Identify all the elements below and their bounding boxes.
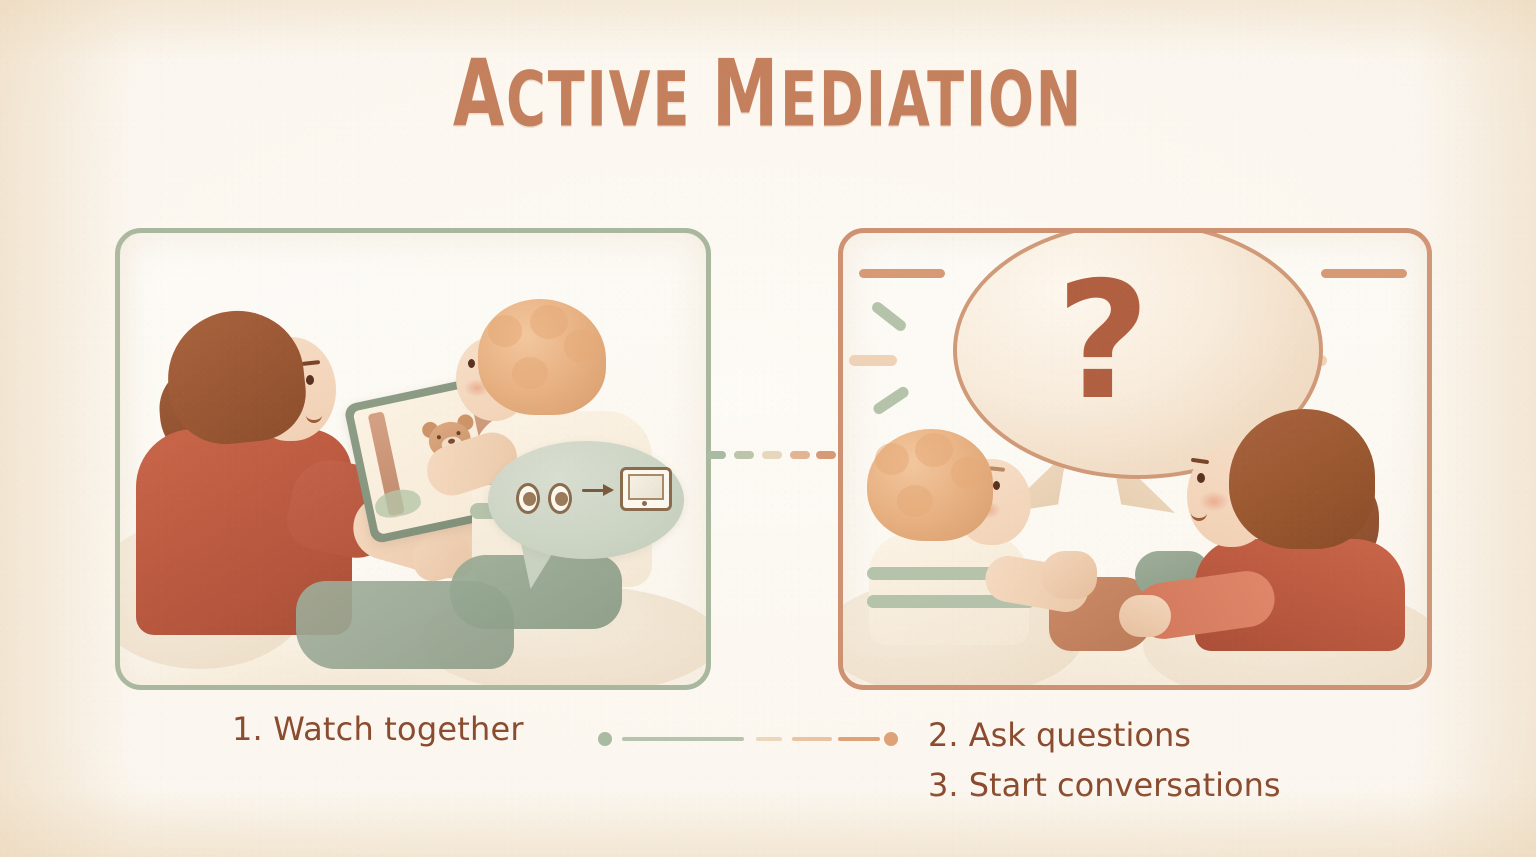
connector-dash — [790, 451, 810, 459]
illustration-canvas: Active Mediation — [0, 0, 1536, 857]
connector-dash — [816, 451, 836, 459]
hair-curl — [488, 315, 522, 347]
bush-left — [373, 486, 423, 521]
parent-eye — [306, 375, 314, 385]
caption-dash — [792, 737, 832, 741]
child-hands — [1041, 551, 1097, 599]
panel-ask-questions: ? — [838, 228, 1432, 690]
connector-dash — [734, 451, 754, 459]
hair-curl — [951, 457, 983, 489]
panel-watch-together — [115, 228, 711, 690]
page-title: Active Mediation — [23, 48, 1513, 141]
connector-dash — [706, 451, 726, 459]
panel-right-scene: ? — [843, 233, 1427, 685]
arrow-right-icon — [582, 489, 612, 492]
parent-hand — [1119, 595, 1171, 637]
question-mark-symbol: ? — [1043, 267, 1163, 439]
hair-curl — [915, 433, 953, 467]
caption-start-conversations: 3. Start conversations — [928, 760, 1281, 810]
hair-curl — [564, 329, 598, 363]
eye-icon — [516, 483, 540, 514]
caption-dot-left — [598, 732, 612, 746]
ray-dash — [849, 355, 897, 366]
hair-curl — [530, 305, 568, 339]
connector-dash — [762, 451, 782, 459]
caption-watch-together: 1. Watch together — [232, 710, 524, 748]
caption-group-right: 2. Ask questions 3. Start conversations — [928, 710, 1281, 810]
panel-left-scene — [120, 233, 706, 685]
ray-dash — [870, 300, 908, 333]
caption-dot-right — [884, 732, 898, 746]
ray-dash — [1321, 269, 1407, 278]
hair-curl — [875, 443, 909, 475]
parent-hair — [1229, 409, 1375, 549]
ray-dash — [859, 269, 945, 278]
child-eye — [993, 481, 1000, 490]
caption-ask-questions: 2. Ask questions — [928, 710, 1281, 760]
child-eye — [468, 359, 475, 368]
panel-connector — [706, 448, 834, 462]
hair-curl — [897, 485, 933, 517]
screen-home-dot-icon — [642, 501, 647, 506]
hair-curl — [512, 357, 548, 389]
ray-dash — [871, 385, 910, 416]
parent-eye — [1197, 473, 1205, 483]
caption-connector — [598, 732, 898, 744]
child-hair — [867, 429, 993, 541]
child-hair — [478, 299, 606, 415]
caption-dash — [622, 737, 744, 741]
caption-dash — [838, 737, 880, 741]
caption-dash — [756, 737, 782, 741]
eye-icon — [548, 483, 572, 514]
